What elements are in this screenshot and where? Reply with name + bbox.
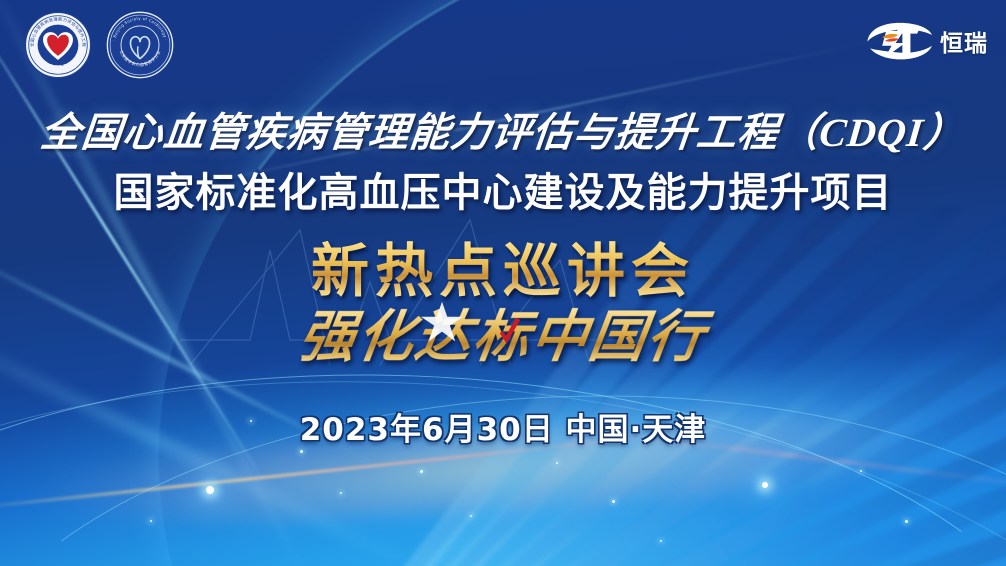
- bottom-arc-line-1: [0, 342, 1006, 566]
- headline-primary: 全国心血管疾病管理能力评估与提升工程（CDQI）: [0, 100, 1006, 158]
- sparkle: [612, 500, 615, 503]
- slogan-sub: 强化达标中国行: [0, 292, 1006, 373]
- sparkle-large-2: [762, 482, 768, 488]
- sparkle: [150, 520, 152, 522]
- sparkle: [905, 520, 908, 523]
- bottom-arc-line-2: [0, 374, 1006, 566]
- sparkle: [340, 492, 342, 494]
- sparkle: [300, 450, 303, 453]
- sparkle: [660, 540, 662, 542]
- sparkle: [420, 470, 423, 473]
- organizer-logos: 全国心血管疾病管理能力评估与提升工程 CDQI ·: [24, 11, 174, 79]
- hengrui-pharma-logo: 恒瑞: [862, 18, 988, 64]
- cdqi-logo: 全国心血管疾病管理能力评估与提升工程 CDQI: [24, 11, 92, 79]
- headline-secondary: 国家标准化高血压中心建设及能力提升项目: [0, 160, 1006, 218]
- sparkle: [470, 515, 472, 517]
- date-location: 2023年6月30日 中国·天津: [0, 404, 1006, 449]
- hengrui-mark-icon: [862, 18, 936, 64]
- hengrui-brand-text: 恒瑞: [940, 24, 988, 58]
- sparkle: [860, 470, 862, 472]
- event-banner: 全国心血管疾病管理能力评估与提升工程 CDQI ·: [0, 0, 1006, 566]
- beijing-society-cardiology-logo: · Beijing Society of Cardiology · 北京医学会心…: [106, 11, 174, 79]
- cyan-glow-band: [0, 343, 1006, 566]
- sparkle-large: [206, 486, 214, 494]
- sparkle: [556, 462, 558, 464]
